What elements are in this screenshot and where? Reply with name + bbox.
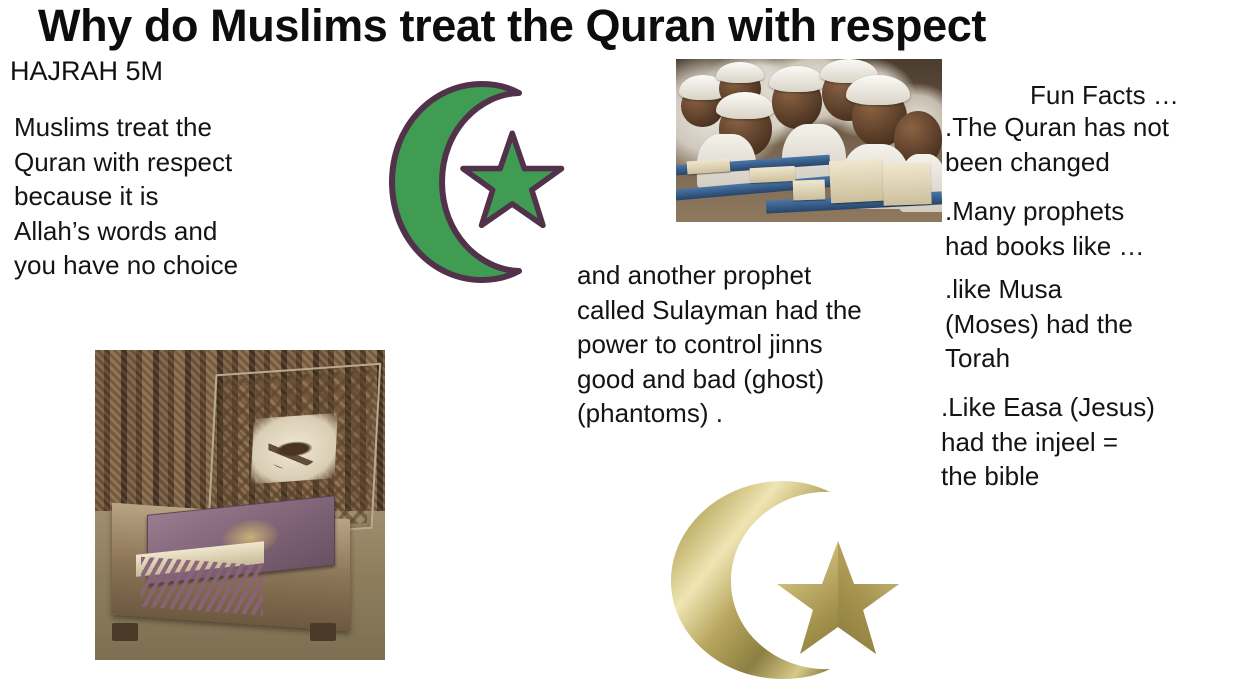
middle-text-line: good and bad (ghost) <box>577 362 967 397</box>
author-tag: HAJRAH 5M <box>10 57 163 87</box>
left-text-line: because it is <box>14 179 344 214</box>
fun-fact-line: the bible <box>941 459 1256 494</box>
left-text-line: you have no choice <box>14 248 344 283</box>
fun-fact-line: been changed <box>945 145 1255 180</box>
fun-fact-line: .Like Easa (Jesus) <box>941 390 1256 425</box>
page-title: Why do Muslims treat the Quran with resp… <box>38 2 1248 49</box>
fun-fact-line: had the injeel = <box>941 425 1256 460</box>
fun-fact-1: .The Quran has not been changed <box>945 110 1255 179</box>
fun-fact-line: had books like … <box>945 229 1255 264</box>
boys-reading-quran-photo <box>676 59 942 222</box>
fun-fact-line: (Moses) had the <box>945 307 1255 342</box>
fun-fact-3: .like Musa (Moses) had the Torah <box>945 272 1255 376</box>
left-text-line: Quran with respect <box>14 145 344 180</box>
fun-fact-4: .Like Easa (Jesus) had the injeel = the … <box>941 390 1256 494</box>
left-text-line: Allah’s words and <box>14 214 344 249</box>
fun-fact-line: Torah <box>945 341 1255 376</box>
fun-facts-heading: Fun Facts … <box>1030 78 1179 113</box>
left-text-line: Muslims treat the <box>14 110 344 145</box>
fun-fact-line: .like Musa <box>945 272 1255 307</box>
middle-text-line: and another prophet <box>577 258 967 293</box>
middle-text-line: (phantoms) . <box>577 396 967 431</box>
middle-text-line: power to control jinns <box>577 327 967 362</box>
prayer-beads <box>141 557 263 615</box>
quran-in-carved-box-photo <box>95 350 385 660</box>
fun-fact-2: .Many prophets had books like … <box>945 194 1255 263</box>
fun-fact-line: .The Quran has not <box>945 110 1255 145</box>
green-crescent-star-icon <box>378 70 578 300</box>
middle-text-block: and another prophet called Sulayman had … <box>577 258 967 431</box>
fun-fact-line: .Many prophets <box>945 194 1255 229</box>
middle-text-line: called Sulayman had the <box>577 293 967 328</box>
slide-canvas: Why do Muslims treat the Quran with resp… <box>0 0 1256 692</box>
left-text-block: Muslims treat the Quran with respect bec… <box>14 110 344 283</box>
gold-crescent-star-icon <box>655 465 920 690</box>
